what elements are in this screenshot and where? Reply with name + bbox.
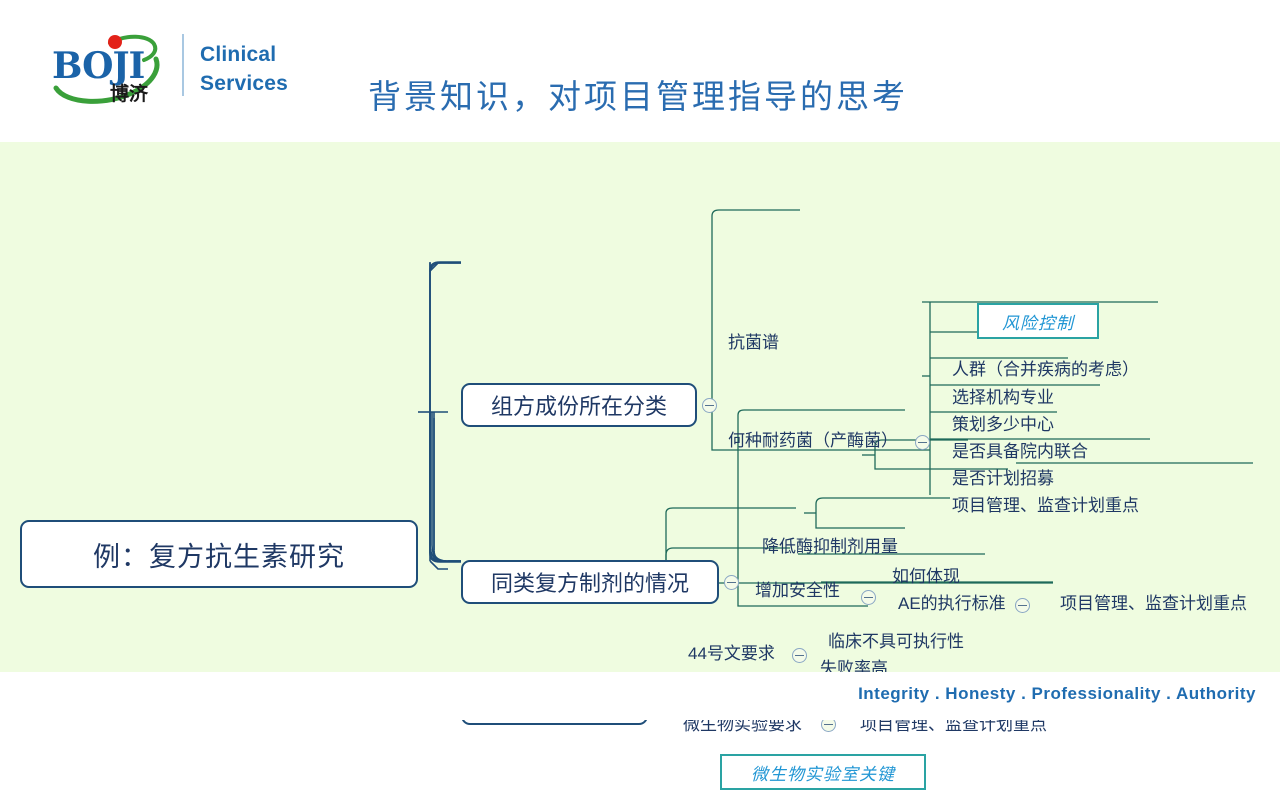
leaf-b1-c2-g2[interactable]: 选择机构专业 [952, 389, 1054, 407]
collapse-minus-icon-b1-c2[interactable] [915, 435, 930, 450]
slide-footer: Integrity . Honesty . Professionality . … [0, 672, 1280, 720]
leaf-b1-c2-g5[interactable]: 是否计划招募 [952, 470, 1054, 488]
svg-text:博济: 博济 [110, 82, 149, 105]
leaf-b1-c2-g6[interactable]: 项目管理、监查计划重点 [952, 497, 1139, 515]
mindmap-inner: 例：复方抗生素研究 组方成份所在分类 抗菌谱 何种耐药菌（产酶菌） 人群（合并疾… [0, 142, 1280, 672]
mindmap-canvas: 例：复方抗生素研究 组方成份所在分类 抗菌谱 何种耐药菌（产酶菌） 人群（合并疾… [0, 142, 1280, 672]
mindmap-branch-node-1[interactable]: 组方成份所在分类 [461, 383, 697, 427]
collapse-minus-icon-b2-c2-g2[interactable] [1015, 598, 1030, 613]
leaf-b2-c2-g2-h1[interactable]: 项目管理、监查计划重点 [1060, 595, 1247, 613]
mindmap-branch-node-2[interactable]: 同类复方制剂的情况 [461, 560, 719, 604]
leaf-b3-c1-g1[interactable]: 临床不具可执行性 [828, 633, 964, 651]
collapse-minus-icon-b2-c2[interactable] [861, 590, 876, 605]
footer-slogan: Integrity . Honesty . Professionality . … [858, 684, 1256, 704]
leaf-b2-c2-g1[interactable]: 如何体现 [892, 568, 960, 586]
boji-logo-icon: BOJI 博济 [48, 26, 178, 110]
callout-risk-control[interactable]: 风险控制 [977, 303, 1099, 339]
boji-logo: BOJI 博济 [48, 26, 178, 110]
callout-microbiology-lab-key[interactable]: 微生物实验室关键 [720, 754, 926, 790]
leaf-b1-c2-g1[interactable]: 人群（合并疾病的考虑） [952, 361, 1139, 379]
brand-name: Clinical Services [200, 40, 288, 98]
slide-header: BOJI 博济 Clinical Services 背景知识，对项目管理指导的思… [0, 0, 1280, 142]
leaf-b1-c2-g4[interactable]: 是否具备院内联合 [952, 443, 1088, 461]
leaf-b2-c2-g2[interactable]: AE的执行标准 [898, 595, 1006, 613]
collapse-minus-icon-b1[interactable] [702, 398, 717, 413]
collapse-minus-icon-b3-c1[interactable] [792, 648, 807, 663]
leaf-b1-c2[interactable]: 何种耐药菌（产酶菌） [728, 432, 898, 450]
brand-line-2: Services [200, 69, 288, 98]
page-title: 背景知识，对项目管理指导的思考 [368, 70, 1028, 118]
brand-line-1: Clinical [200, 40, 288, 69]
leaf-b2-c1[interactable]: 降低酶抑制剂用量 [762, 538, 898, 556]
mindmap-root-node[interactable]: 例：复方抗生素研究 [20, 520, 418, 588]
collapse-minus-icon-b2[interactable] [724, 575, 739, 590]
leaf-b1-c2-g3[interactable]: 策划多少中心 [952, 416, 1054, 434]
header-divider [182, 34, 184, 96]
leaf-b1-c1[interactable]: 抗菌谱 [728, 334, 779, 352]
leaf-b2-c2[interactable]: 增加安全性 [755, 582, 840, 600]
svg-text:BOJI: BOJI [52, 45, 144, 87]
leaf-b3-c1[interactable]: 44号文要求 [688, 645, 775, 663]
